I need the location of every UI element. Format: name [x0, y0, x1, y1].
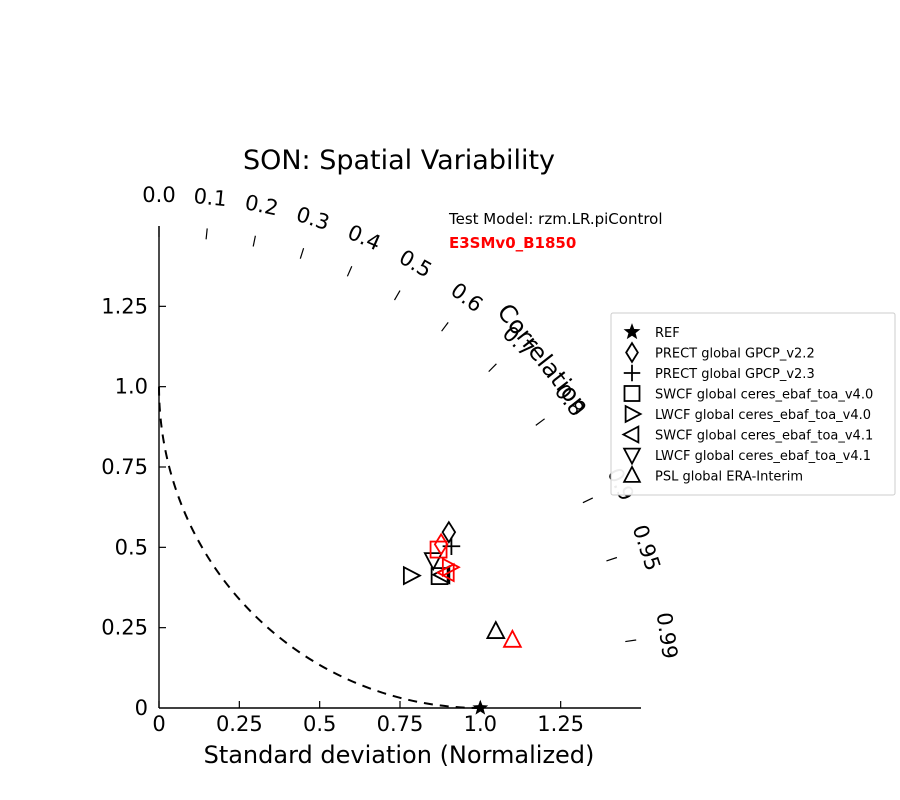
- test-model-annotation: Test Model: rzm.LR.piControl: [448, 210, 663, 228]
- correlation-tick-label-0.2: 0.2: [243, 190, 281, 220]
- taylor-diagram-figure: 0.00.10.20.30.40.50.60.70.80.90.950.99 0…: [0, 0, 900, 800]
- x-tick-label-1.25: 1.25: [537, 712, 584, 736]
- y-tick-label-1.0: 1.0: [115, 375, 148, 399]
- data-point-triangle-right-4: [404, 567, 420, 584]
- correlation-tick-label-0.5: 0.5: [395, 245, 436, 282]
- correlation-tick-label-0.6: 0.6: [446, 278, 487, 317]
- y-tick-label-0.75: 0.75: [101, 455, 148, 479]
- data-point-triangle-up-7: [487, 622, 504, 638]
- x-tick-label-0.25: 0.25: [216, 712, 263, 736]
- legend-label-2: PRECT global GPCP_v2.3: [655, 367, 815, 382]
- axes-frame-group: [159, 226, 641, 708]
- x-axis-ticks-group: 00.250.50.751.01.25: [152, 701, 584, 736]
- y-tick-label-0.25: 0.25: [101, 616, 148, 640]
- correlation-tick-label-0.4: 0.4: [344, 220, 384, 255]
- legend-label-7: PSL global ERA-Interim: [655, 470, 803, 485]
- correlation-tick-label-0.95: 0.95: [628, 522, 665, 574]
- page-title: SON: Spatial Variability: [243, 145, 555, 176]
- legend-label-6: LWCF global ceres_ebaf_toa_v4.1: [655, 449, 871, 464]
- correlation-tick-label-0.1: 0.1: [192, 184, 228, 211]
- y-axis-ticks-group: 00.250.50.751.01.25: [101, 294, 166, 720]
- legend[interactable]: REFPRECT global GPCP_v2.2PRECT global GP…: [611, 313, 895, 495]
- x-tick-label-0.75: 0.75: [377, 712, 424, 736]
- rms-reference-arc: [159, 387, 480, 708]
- legend-label-1: PRECT global GPCP_v2.2: [655, 347, 815, 362]
- legend-item-1[interactable]: PRECT global GPCP_v2.2: [626, 343, 815, 362]
- legend-box: [611, 313, 895, 495]
- correlation-tick-label-0.0: 0.0: [142, 183, 175, 207]
- legend-item-3[interactable]: SWCF global ceres_ebaf_toa_v4.0: [625, 386, 874, 403]
- data-point-triangle-down-6: [425, 553, 442, 569]
- y-tick-label-0.5: 0.5: [115, 535, 148, 559]
- legend-item-5[interactable]: SWCF global ceres_ebaf_toa_v4.1: [623, 427, 873, 444]
- correlation-tick-label-0.3: 0.3: [293, 202, 332, 235]
- x-tick-label-0: 0: [152, 712, 165, 736]
- correlation-ticks-group: 0.00.10.20.30.40.50.60.70.80.90.950.99: [142, 183, 682, 660]
- legend-item-4[interactable]: LWCF global ceres_ebaf_toa_v4.0: [626, 406, 871, 423]
- reference-model-annotation: E3SMv0_B1850: [449, 234, 576, 252]
- x-tick-label-0.5: 0.5: [303, 712, 336, 736]
- legend-label-3: SWCF global ceres_ebaf_toa_v4.0: [655, 388, 873, 403]
- legend-label-5: SWCF global ceres_ebaf_toa_v4.1: [655, 429, 873, 444]
- legend-label-0: REF: [655, 326, 680, 341]
- x-tick-label-1.0: 1.0: [464, 712, 497, 736]
- data-point-triangle-up-12: [504, 631, 521, 647]
- x-axis-label: Standard deviation (Normalized): [204, 741, 595, 769]
- y-tick-label-1.25: 1.25: [101, 294, 148, 318]
- legend-label-4: LWCF global ceres_ebaf_toa_v4.0: [655, 408, 871, 423]
- rms-circle-group: [159, 387, 480, 708]
- taylor-diagram-canvas: 0.00.10.20.30.40.50.60.70.80.90.950.99 0…: [0, 0, 900, 800]
- y-tick-label-0: 0: [135, 696, 148, 720]
- legend-item-6[interactable]: LWCF global ceres_ebaf_toa_v4.1: [624, 449, 871, 464]
- data-points-group: [404, 522, 521, 715]
- correlation-axis-label: Correlation: [492, 298, 596, 420]
- correlation-tick-label-0.99: 0.99: [652, 611, 682, 661]
